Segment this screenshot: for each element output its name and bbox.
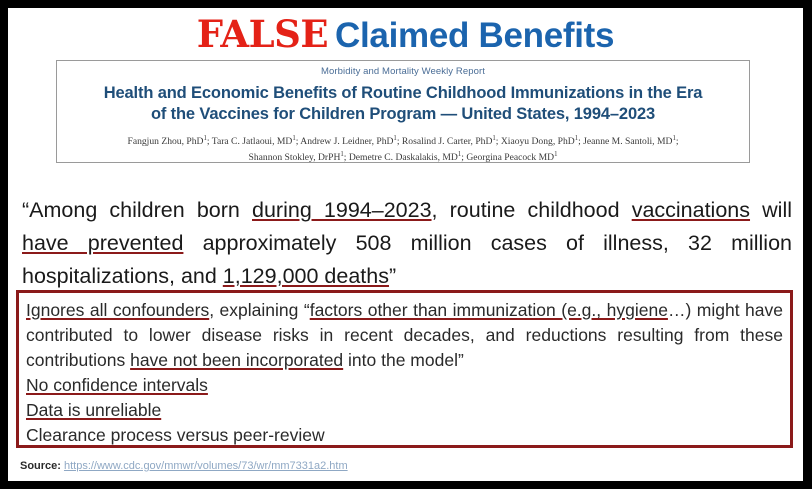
slide-canvas: FALSEClaimed Benefits Morbidity and Mort…: [8, 8, 803, 481]
critique-line-2-text: No confidence intervals: [26, 375, 208, 395]
mmwr-title-line-1: Health and Economic Benefits of Routine …: [57, 83, 749, 104]
source-label: Source:: [20, 460, 61, 472]
mmwr-author-list: Fangjun Zhou, PhD1; Tara C. Jatlaoui, MD…: [57, 133, 749, 164]
critique-underlined-factors: factors other than immunization (e.g., h…: [310, 300, 668, 320]
quote-segment-2: , routine childhood: [432, 198, 632, 222]
quote-segment-1: Among children born: [29, 198, 252, 222]
mmwr-title-line-2: of the Vaccines for Children Program — U…: [57, 104, 749, 125]
critique-line-data-unreliable: Data is unreliable: [26, 398, 783, 423]
critique-line-4-text: Clearance process versus peer-review: [26, 425, 325, 445]
critique-paragraph: Ignores all confounders, explaining “fac…: [26, 298, 783, 373]
critique-underlined-confounders: Ignores all confounders: [26, 300, 209, 320]
critique-underlined-not-incorporated: have not been incorporated: [130, 350, 343, 370]
title-false-word: FALSE: [197, 12, 328, 56]
mmwr-author-line-1: Fangjun Zhou, PhD1; Tara C. Jatlaoui, MD…: [69, 133, 737, 149]
quote-segment-3: will: [750, 198, 792, 222]
source-url-link[interactable]: https://www.cdc.gov/mmwr/volumes/73/wr/m…: [64, 460, 348, 472]
critique-line-clearance-process: Clearance process versus peer-review: [26, 423, 783, 448]
mmwr-author-line-2: Shannon Stokley, DrPH1; Demetre C. Daska…: [69, 149, 737, 165]
quote-underlined-vaccinations: vaccinations: [632, 198, 750, 222]
title-claimed-benefits: Claimed Benefits: [335, 16, 614, 55]
critique-box: Ignores all confounders, explaining “fac…: [16, 290, 793, 448]
quote-underlined-dates: during 1994–2023: [252, 198, 432, 222]
slide-outer-frame: FALSEClaimed Benefits Morbidity and Mort…: [0, 0, 812, 489]
critique-line-3-text: Data is unreliable: [26, 400, 161, 420]
quote-close: ”: [389, 264, 396, 288]
source-line: Source:https://www.cdc.gov/mmwr/volumes/…: [20, 460, 348, 472]
quote-underlined-have-prevented: have prevented: [22, 231, 183, 255]
critique-segment-1: , explaining “: [209, 300, 310, 320]
page-title: FALSEClaimed Benefits: [8, 12, 803, 56]
mmwr-header-box: Morbidity and Mortality Weekly Report He…: [56, 60, 750, 163]
quoted-claim: “Among children born during 1994–2023, r…: [22, 194, 792, 293]
mmwr-kicker: Morbidity and Mortality Weekly Report: [57, 66, 749, 77]
critique-segment-3: into the model”: [343, 350, 464, 370]
critique-line-no-confidence-intervals: No confidence intervals: [26, 373, 783, 398]
quote-underlined-deaths: 1,129,000 deaths: [223, 264, 389, 288]
